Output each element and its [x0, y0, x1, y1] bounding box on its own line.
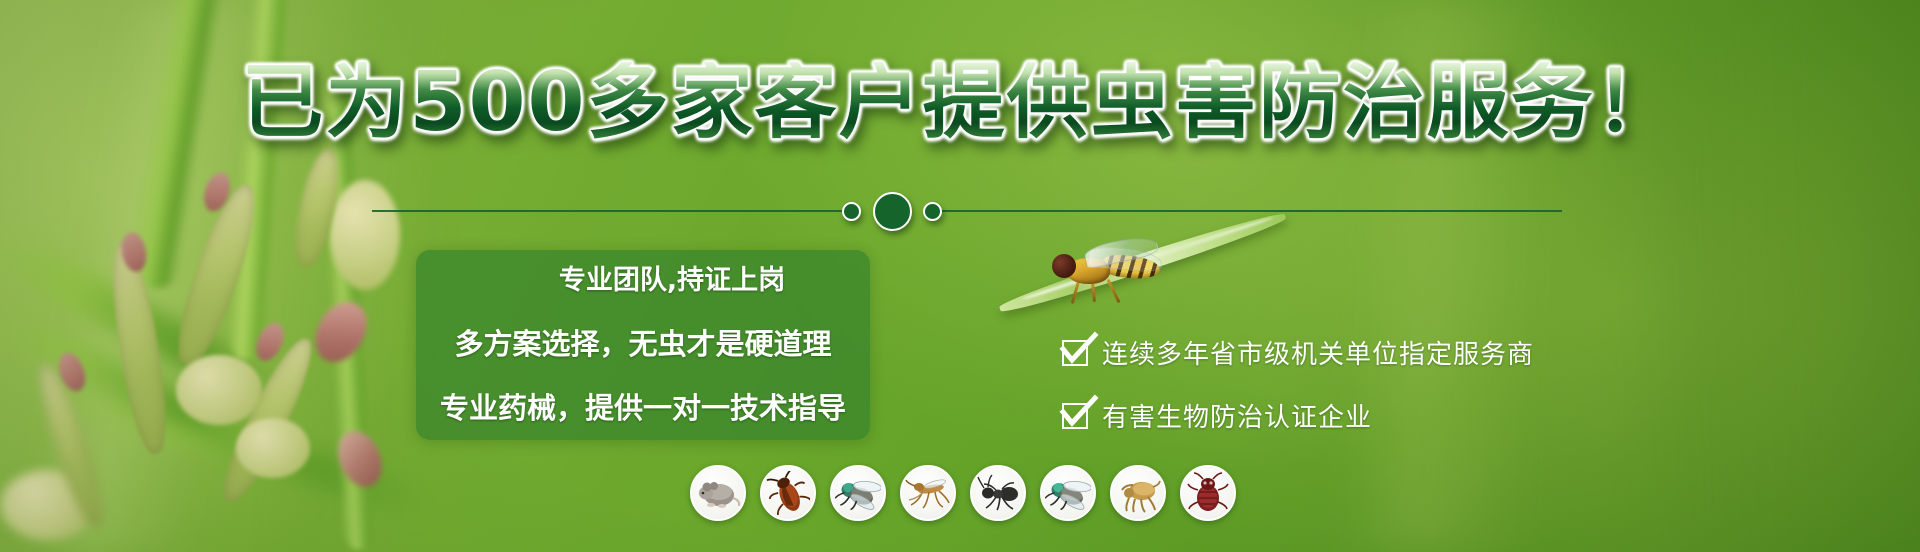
bedbug-icon[interactable] — [1180, 465, 1236, 521]
decorative-dot-large — [873, 192, 912, 231]
checkbox-checked-icon — [1062, 403, 1088, 429]
list-item: 有害生物防治认证企业 — [1062, 397, 1534, 434]
ant-icon[interactable] — [970, 465, 1026, 521]
selling-point-3: 专业药械，提供一对一技术指导 — [434, 385, 852, 427]
list-item: 连续多年省市级机关单位指定服务商 — [1062, 334, 1534, 371]
housefly-icon[interactable] — [830, 465, 886, 521]
checkbox-checked-icon — [1062, 340, 1088, 366]
mosquito-icon[interactable] — [900, 465, 956, 521]
decorative-dot-small-left — [842, 202, 861, 221]
pest-control-hero-banner: 已为500多家客户提供虫害防治服务！ 专业团队,持证上岗 多方案选择，无虫才是硬… — [0, 0, 1920, 552]
page-title: 已为500多家客户提供虫害防治服务！ — [0, 62, 1920, 144]
pest-icon-row — [690, 465, 1236, 521]
decorative-dot-small-right — [923, 202, 942, 221]
list-item-label: 连续多年省市级机关单位指定服务商 — [1102, 334, 1534, 371]
selling-points-panel: 专业团队,持证上岗 多方案选择，无虫才是硬道理 专业药械，提供一对一技术指导 — [416, 250, 870, 440]
credentials-checklist: 连续多年省市级机关单位指定服务商 有害生物防治认证企业 — [1062, 334, 1534, 434]
hoverfly-icon — [1048, 238, 1168, 300]
mouse-icon[interactable] — [690, 465, 746, 521]
selling-point-1: 专业团队,持证上岗 — [434, 258, 852, 297]
divider-left — [372, 210, 842, 212]
list-item-label: 有害生物防治认证企业 — [1102, 397, 1372, 434]
cockroach-icon[interactable] — [760, 465, 816, 521]
flea-icon[interactable] — [1110, 465, 1166, 521]
selling-point-2: 多方案选择，无虫才是硬道理 — [434, 321, 852, 363]
decorative-dots — [842, 186, 942, 236]
divider-right — [940, 210, 1562, 212]
greenfly-icon[interactable] — [1040, 465, 1096, 521]
